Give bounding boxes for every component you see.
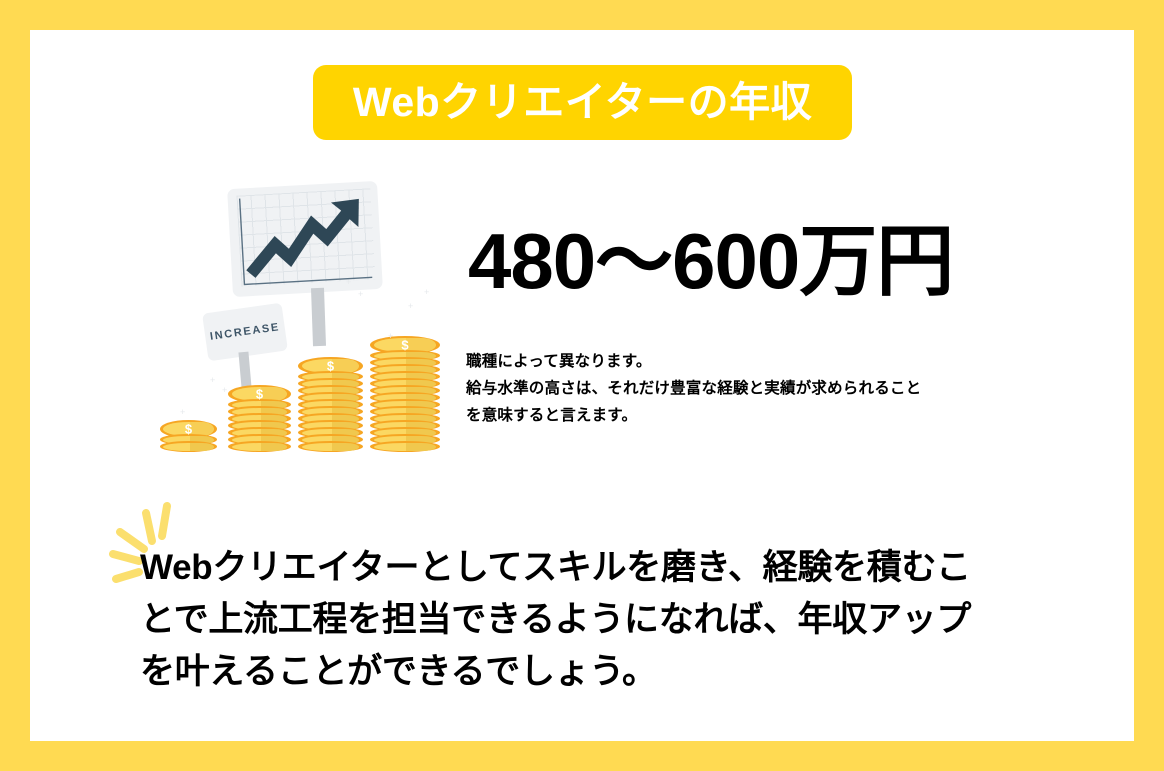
chart-board-pole (311, 288, 326, 346)
dollar-icon: $ (370, 339, 440, 352)
coin-top: $ (160, 420, 217, 438)
coin-top: $ (370, 336, 440, 354)
increase-sign-label: INCREASE (209, 321, 280, 343)
dollar-icon: $ (228, 388, 291, 401)
coin-top: $ (298, 357, 363, 375)
coin (370, 441, 440, 452)
bottom-message-line: とで上流工程を担当できるようになれば、年収アップ (140, 594, 1060, 646)
salary-amount: 480〜600万円 (468, 222, 953, 300)
sparkle-plus-icon: + (180, 408, 185, 417)
sparkle-plus-icon: + (222, 386, 227, 395)
sparkle-plus-icon: + (346, 278, 351, 287)
coin (298, 441, 363, 452)
coin-stack-1: $ (160, 420, 217, 452)
increase-sign-pole (238, 352, 251, 389)
coin-stack-3: $ (298, 357, 363, 452)
growth-chart-board (227, 181, 383, 297)
description-line: 職種によって異なります。 (466, 348, 1086, 375)
title-badge-label: Webクリエイターの年収 (353, 82, 812, 123)
coin-stack-2: $ (228, 385, 291, 452)
infographic-canvas: Webクリエイターの年収 INCREASE $$$$ ++++++++ 480〜… (0, 0, 1164, 771)
dollar-icon: $ (298, 360, 363, 373)
description-block: 職種によって異なります。 給与水準の高さは、それだけ豊富な経験と実績が求められる… (466, 348, 1086, 429)
bottom-message-line: を叶えることができるでしょう。 (140, 646, 1060, 698)
bottom-message-line: Webクリエイターとしてスキルを磨き、経験を積むこ (140, 542, 1060, 594)
description-line: を意味すると言えます。 (466, 402, 1086, 429)
sparkle-plus-icon: + (358, 290, 363, 299)
coin-top: $ (228, 385, 291, 403)
chart-arrow-icon (227, 181, 383, 297)
bottom-message-block: Webクリエイターとしてスキルを磨き、経験を積むこ とで上流工程を担当できるよう… (140, 542, 1060, 697)
coin-growth-illustration: INCREASE $$$$ ++++++++ (150, 180, 460, 470)
sparkle-plus-icon: + (408, 302, 413, 311)
coin (228, 441, 291, 452)
dollar-icon: $ (160, 423, 217, 436)
sparkle-plus-icon: + (210, 376, 215, 385)
title-badge: Webクリエイターの年収 (313, 65, 852, 140)
coin-stack-4: $ (370, 336, 440, 452)
description-line: 給与水準の高さは、それだけ豊富な経験と実績が求められること (466, 375, 1086, 402)
sparkle-plus-icon: + (424, 288, 429, 297)
coin (160, 441, 217, 452)
